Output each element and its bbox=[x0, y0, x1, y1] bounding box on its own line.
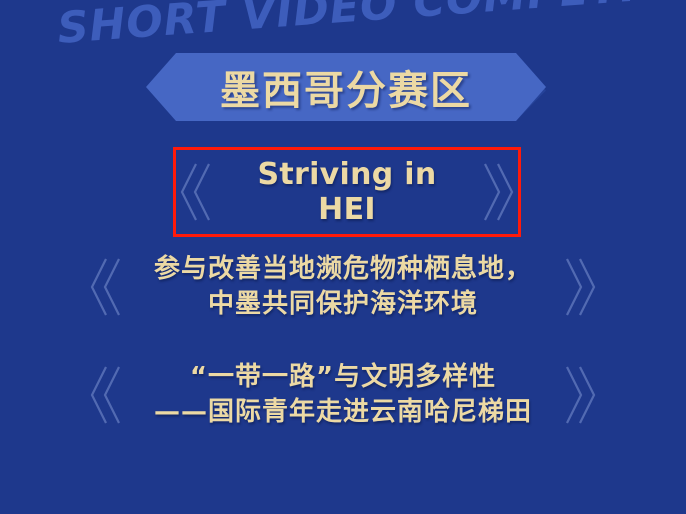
banner-title-text: 墨西哥分赛区 bbox=[146, 53, 546, 121]
double-chevron-left-icon bbox=[88, 256, 122, 318]
double-chevron-right-icon bbox=[564, 364, 598, 426]
project-one-text: 参与改善当地濒危物种栖息地， 中墨共同保护海洋环境 bbox=[144, 252, 542, 323]
english-title-text: Striving in HEI bbox=[234, 157, 460, 227]
project-two-text: “一带一路”与文明多样性 ——国际青年走进云南哈尼梯田 bbox=[144, 360, 542, 431]
presentation-slide: SHORT VIDEO COMPETITION 墨西哥分赛区 Striving … bbox=[0, 0, 686, 514]
double-chevron-left-icon bbox=[88, 364, 122, 426]
project-one-block: 参与改善当地濒危物种栖息地， 中墨共同保护海洋环境 bbox=[88, 248, 598, 326]
project-two-block: “一带一路”与文明多样性 ——国际青年走进云南哈尼梯田 bbox=[88, 352, 598, 438]
double-chevron-right-icon bbox=[564, 256, 598, 318]
double-chevron-right-icon bbox=[482, 161, 516, 223]
region-title-banner: 墨西哥分赛区 bbox=[146, 53, 546, 121]
double-chevron-left-icon bbox=[178, 161, 212, 223]
english-title-block: Striving in HEI bbox=[178, 152, 516, 232]
